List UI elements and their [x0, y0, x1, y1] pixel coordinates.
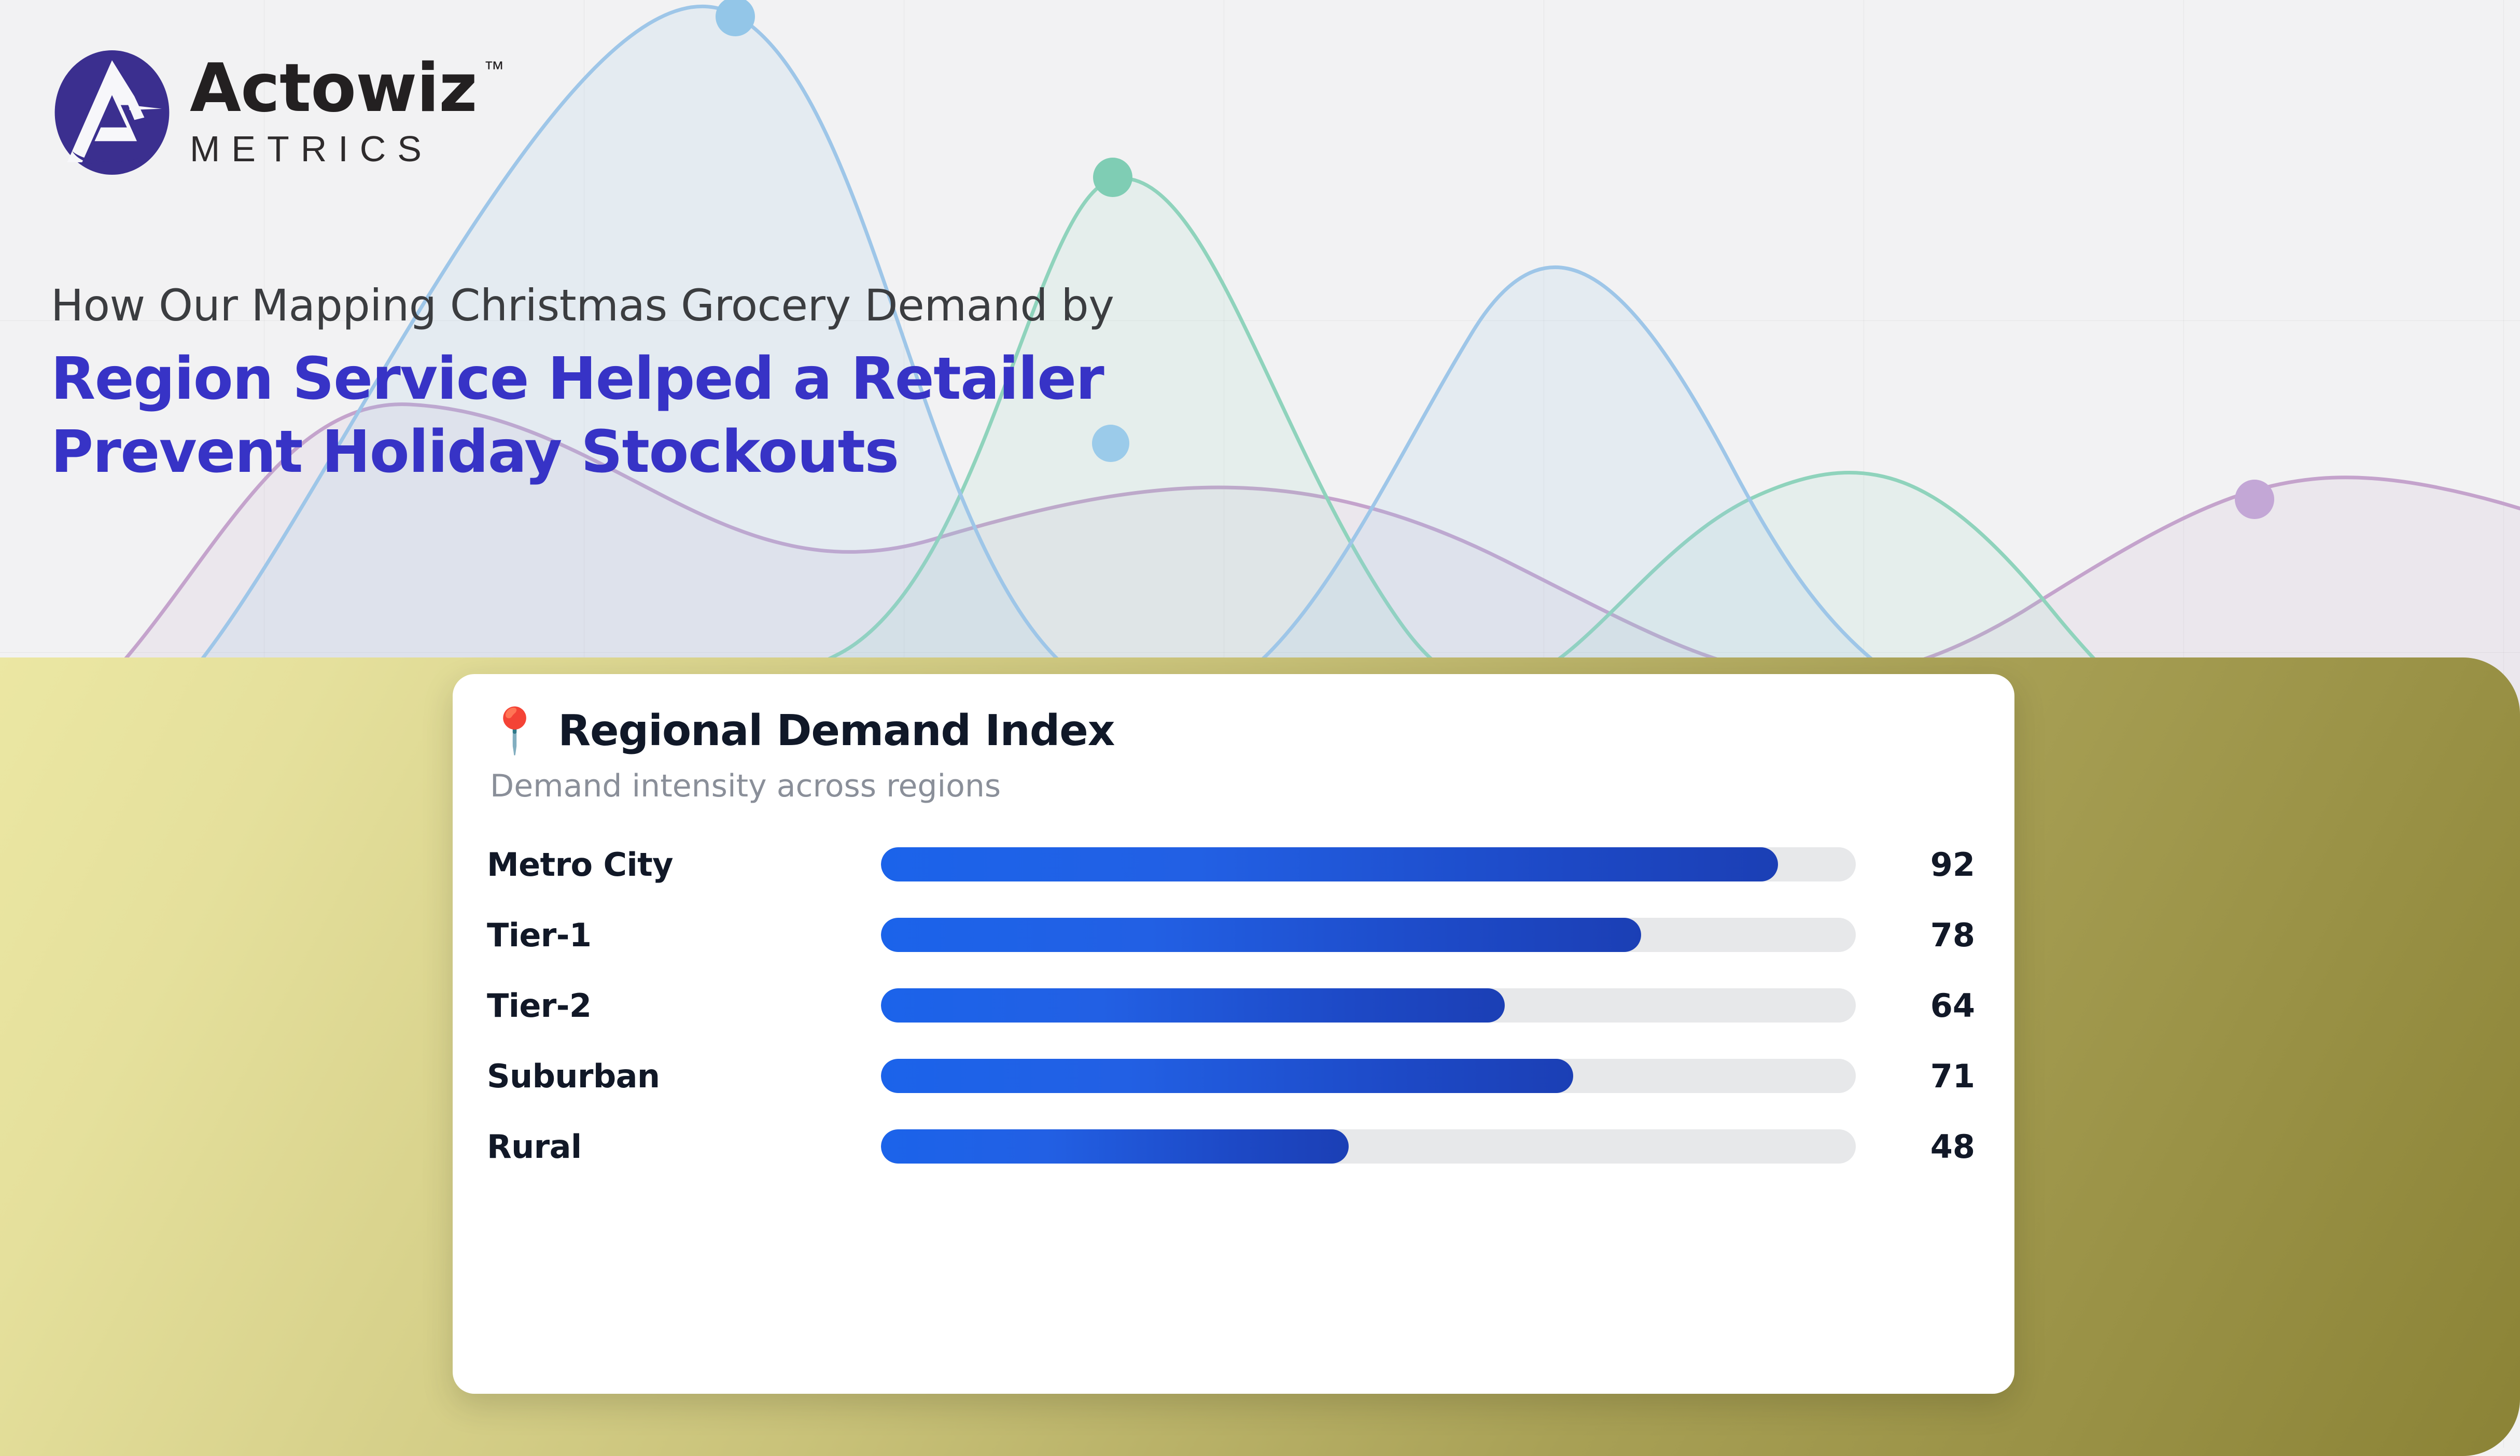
logo-wordmark-text: Actowiz — [190, 50, 477, 127]
card-header: 📍 Regional Demand Index — [487, 706, 1975, 755]
regional-demand-index-card: 📍 Regional Demand Index Demand intensity… — [453, 674, 2014, 1394]
demand-bar-row: Metro City92 — [487, 829, 1975, 900]
demand-bar-value: 71 — [1856, 1057, 1975, 1095]
card-subtitle: Demand intensity across regions — [490, 768, 1975, 804]
actowiz-metrics-logo[interactable]: Actowiz ™ METRICS — [50, 48, 477, 177]
headline-kicker: How Our Mapping Christmas Grocery Demand… — [51, 280, 1347, 331]
demand-bar-track — [881, 988, 1856, 1023]
demand-bar-track — [881, 1059, 1856, 1093]
demand-bar-fill — [881, 988, 1505, 1023]
demand-bar-label: Rural — [487, 1128, 881, 1166]
demand-bar-value: 64 — [1856, 987, 1975, 1025]
demand-bar-row: Tier-178 — [487, 900, 1975, 970]
demand-bar-track — [881, 847, 1856, 881]
demand-bar-value: 48 — [1856, 1128, 1975, 1166]
background-dot-green — [1093, 158, 1132, 197]
demand-bar-value: 92 — [1856, 846, 1975, 884]
demand-bar-track — [881, 1129, 1856, 1164]
demand-bar-row: Suburban71 — [487, 1041, 1975, 1111]
card-title: Regional Demand Index — [558, 706, 1114, 755]
background-dot-pink — [2235, 480, 2274, 519]
demand-bar-label: Tier-1 — [487, 916, 881, 954]
demand-bar-fill — [881, 847, 1778, 881]
demand-bar-label: Suburban — [487, 1057, 881, 1095]
trademark-icon: ™ — [484, 59, 504, 79]
demand-bar-track — [881, 918, 1856, 952]
demand-bar-row: Rural48 — [487, 1111, 1975, 1182]
page-title: How Our Mapping Christmas Grocery Demand… — [51, 280, 1347, 489]
demand-bar-fill — [881, 1129, 1349, 1164]
actowiz-a-mark-icon — [50, 48, 174, 177]
demand-bar-value: 78 — [1856, 916, 1975, 954]
logo-wordmark: Actowiz ™ — [190, 55, 477, 122]
demand-bar-fill — [881, 918, 1641, 952]
demand-bar-fill — [881, 1059, 1573, 1093]
demand-bar-row: Tier-264 — [487, 970, 1975, 1041]
demand-bar-list: Metro City92Tier-178Tier-264Suburban71Ru… — [487, 829, 1975, 1182]
logo-subwordmark: METRICS — [190, 128, 477, 170]
map-pin-icon: 📍 — [487, 709, 542, 753]
headline-main-line-1: Region Service Helped a Retailer — [51, 343, 1347, 416]
demand-bar-label: Metro City — [487, 846, 881, 884]
demand-bar-label: Tier-2 — [487, 987, 881, 1025]
headline-main: Region Service Helped a Retailer Prevent… — [51, 343, 1347, 489]
headline-main-line-2: Prevent Holiday Stockouts — [51, 416, 1347, 489]
